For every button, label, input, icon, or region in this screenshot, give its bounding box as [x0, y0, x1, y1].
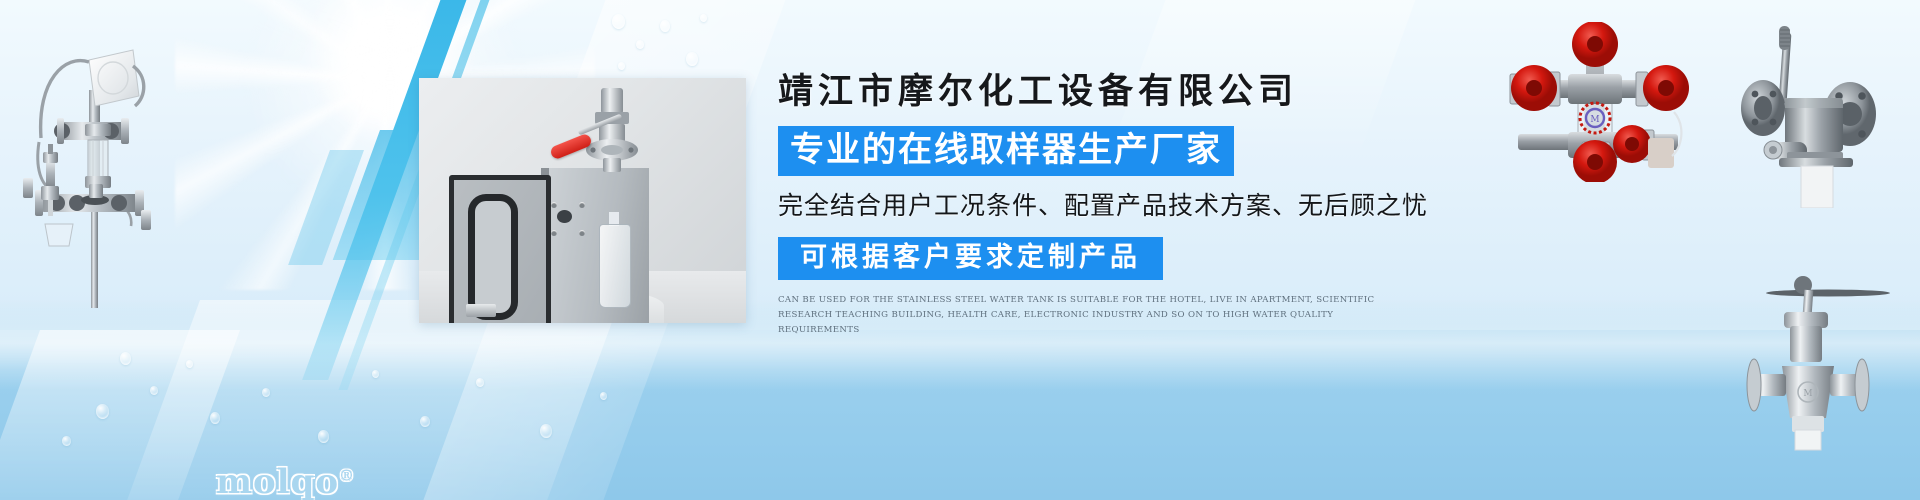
- cabinet-door-window: [468, 194, 518, 320]
- cabinet-latch: [466, 304, 496, 317]
- subline-text: 完全结合用户工况条件、配置产品技术方案、无后顾之忧: [778, 192, 1418, 221]
- water-droplet-icon: [372, 370, 379, 378]
- water-droplet-icon: [262, 388, 270, 397]
- english-caption: CAN BE USED FOR THE STAINLESS STEEL WATE…: [778, 293, 1390, 337]
- water-droplet-icon: [62, 436, 71, 446]
- water-droplet-icon: [600, 392, 607, 400]
- headline-primary: 专业的在线取样器生产厂家: [778, 126, 1234, 176]
- cabinet-door: [449, 175, 551, 323]
- water-droplet-icon: [420, 416, 430, 427]
- cabinet-screw: [551, 230, 557, 236]
- water-droplet-icon: [686, 52, 698, 66]
- water-droplet-icon: [120, 352, 131, 365]
- cabinet-body: [541, 168, 649, 323]
- registered-trademark-icon: ®: [339, 467, 355, 485]
- water-droplet-icon: [540, 424, 552, 438]
- water-droplet-icon: [186, 360, 193, 368]
- water-droplet-icon: [476, 378, 484, 387]
- water-droplet-icon: [660, 20, 670, 32]
- brand-watermark-text: molqo: [216, 462, 339, 500]
- left-product-image: [5, 18, 165, 308]
- cabinet-screw: [579, 230, 585, 236]
- water-droplet-icon: [318, 430, 329, 443]
- cabinet-screw: [579, 202, 585, 208]
- company-name: 靖江市摩尔化工设备有限公司: [778, 72, 1418, 112]
- water-droplet-icon: [636, 40, 644, 49]
- banner-text-block: 靖江市摩尔化工设备有限公司 专业的在线取样器生产厂家 完全结合用户工况条件、配置…: [778, 72, 1418, 337]
- center-product-photo: [419, 78, 746, 323]
- svg-text:M: M: [1590, 115, 1599, 125]
- water-droplet-icon: [96, 404, 109, 419]
- cabinet-port-hole: [557, 210, 572, 223]
- promotional-banner: M: [0, 0, 1920, 500]
- right-product-tee-valve-image: M: [1740, 268, 1915, 453]
- right-product-manifold-image: M: [1490, 22, 1710, 182]
- cabinet-screw: [551, 202, 557, 208]
- water-droplet-icon: [150, 386, 158, 395]
- right-product-lever-valve-image: [1735, 18, 1910, 208]
- water-droplet-icon: [700, 14, 707, 22]
- headline-secondary: 可根据客户要求定制产品: [778, 237, 1163, 280]
- sample-bottle: [599, 224, 631, 308]
- water-droplet-icon: [618, 62, 625, 70]
- svg-text:M: M: [1803, 389, 1812, 399]
- water-droplet-icon: [612, 14, 625, 29]
- water-droplet-icon: [210, 412, 220, 424]
- brand-watermark: molqo®: [216, 462, 355, 500]
